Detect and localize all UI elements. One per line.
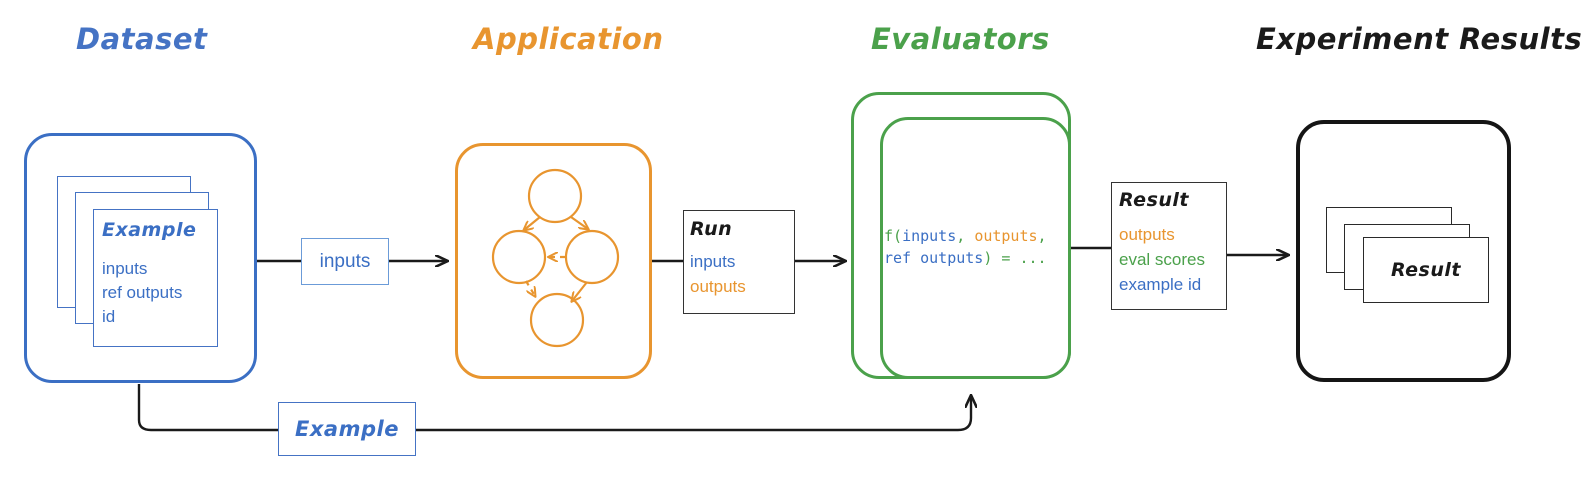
formula-token-0: f( bbox=[884, 227, 902, 245]
connector-dataset-to-example bbox=[139, 384, 278, 430]
section-title-application: Application bbox=[473, 25, 663, 54]
section-title-dataset: Dataset bbox=[76, 25, 207, 54]
section-title-experiment-results: Experiment Results bbox=[1256, 25, 1581, 54]
result-field-example-id: example id bbox=[1119, 275, 1201, 295]
inputs-box: inputs bbox=[301, 238, 389, 285]
formula-token-4: , bbox=[1038, 227, 1047, 245]
result-field-eval-scores: eval scores bbox=[1119, 250, 1205, 270]
run-field-inputs: inputs bbox=[690, 252, 735, 272]
example-feedback-box: Example bbox=[278, 402, 416, 456]
formula-token-1: inputs bbox=[902, 227, 956, 245]
evaluator-formula: f(inputs, outputs, ref outputs) = ... bbox=[884, 226, 1064, 270]
run-field-outputs: outputs bbox=[690, 277, 746, 297]
result-card-label: Result bbox=[1363, 237, 1489, 303]
connector-example-to-evaluators bbox=[416, 396, 971, 430]
result-field-outputs: outputs bbox=[1119, 225, 1175, 245]
formula-token-3: outputs bbox=[974, 227, 1037, 245]
application-container bbox=[455, 143, 652, 379]
example-card-title: Example bbox=[102, 219, 196, 241]
example-field-inputs: inputs bbox=[102, 259, 147, 279]
formula-token-6: ) = ... bbox=[983, 249, 1046, 267]
run-box-title: Run bbox=[690, 218, 732, 240]
result-box-title: Result bbox=[1119, 189, 1189, 211]
example-feedback-label: Example bbox=[295, 417, 399, 441]
inputs-box-label: inputs bbox=[320, 251, 371, 273]
formula-token-5: ref outputs bbox=[884, 249, 983, 267]
section-title-evaluators: Evaluators bbox=[871, 25, 1050, 54]
diagram-canvas: Dataset Application Evaluators Experimen… bbox=[0, 0, 1581, 477]
example-field-ref-outputs: ref outputs bbox=[102, 283, 182, 303]
formula-token-2: , bbox=[956, 227, 974, 245]
example-field-id: id bbox=[102, 307, 115, 327]
